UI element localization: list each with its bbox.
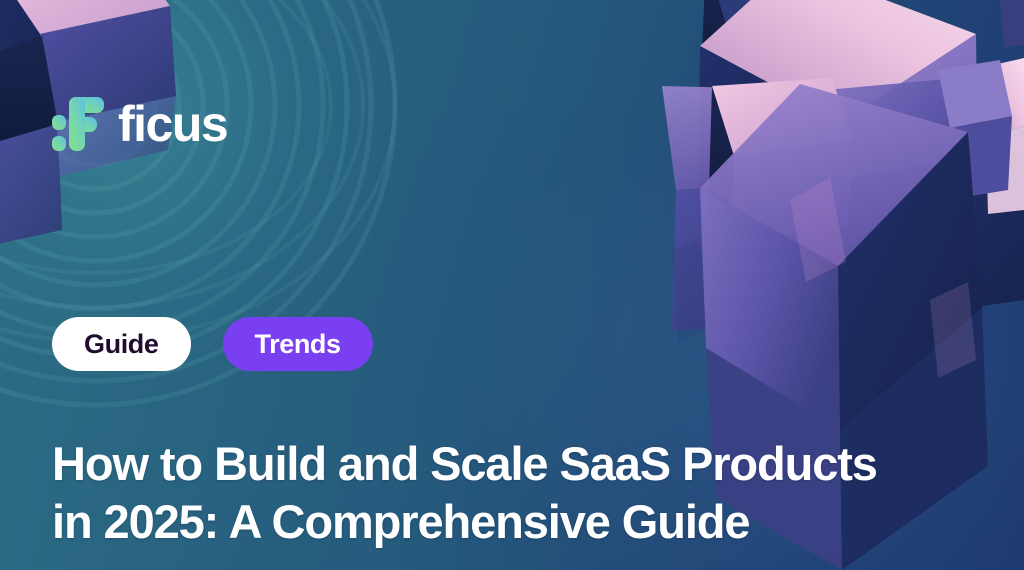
badge-trends[interactable]: Trends (223, 317, 373, 371)
badge-guide[interactable]: Guide (52, 317, 191, 371)
headline-line-2: in 2025: A Comprehensive Guide (52, 493, 1002, 551)
tag-badge-group: Guide Trends (52, 317, 373, 371)
article-hero-banner: ficus Guide Trends How to Build and Scal… (0, 0, 1024, 570)
brand-wordmark: ficus (118, 99, 227, 149)
ficus-f-monogram-icon (52, 96, 104, 152)
headline-line-1: How to Build and Scale SaaS Products (52, 435, 1002, 493)
brand-logo[interactable]: ficus (52, 96, 227, 152)
article-headline: How to Build and Scale SaaS Products in … (52, 435, 1002, 551)
